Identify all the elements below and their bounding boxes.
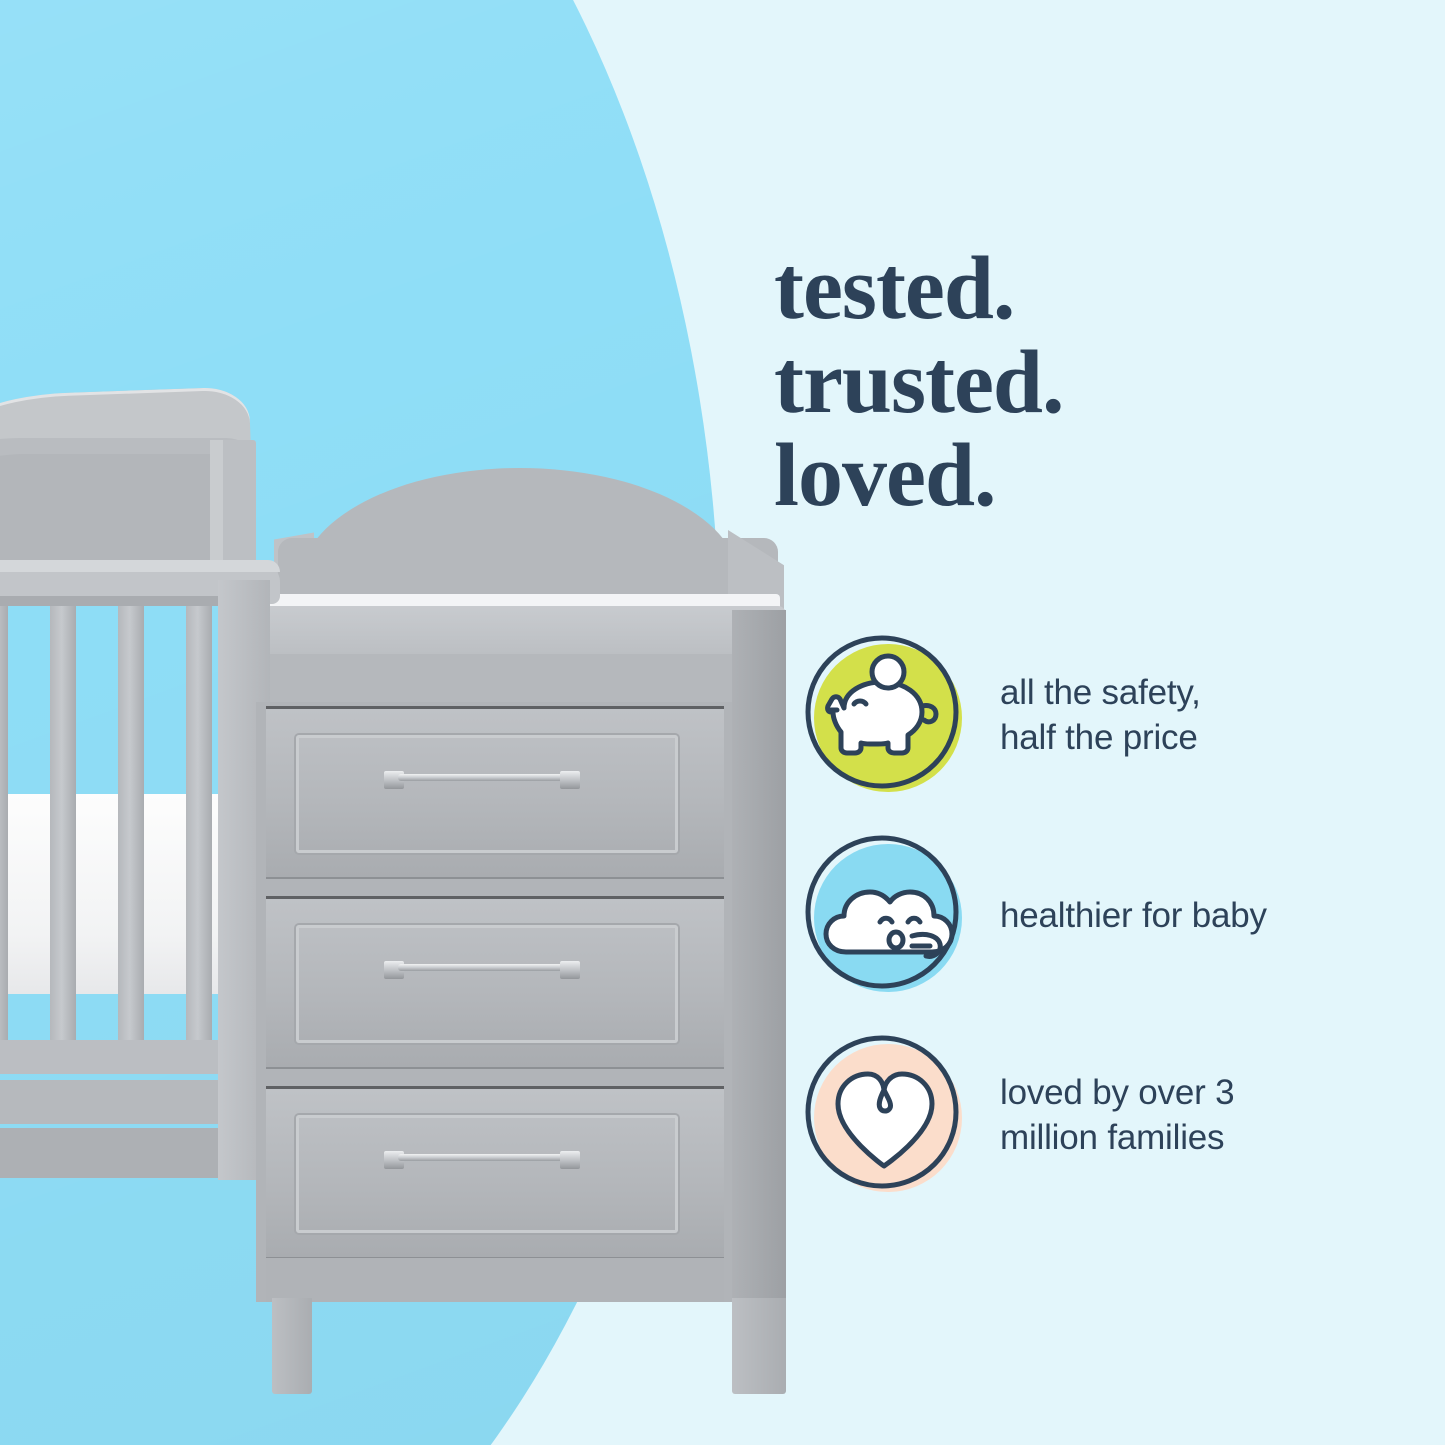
benefit-label: healthier for baby <box>1000 894 1267 939</box>
drawer-pull-bar <box>398 964 566 971</box>
page-title: tested. trusted. loved. <box>774 242 1374 523</box>
drawer-bottom <box>266 1086 724 1259</box>
benefit-item-healthier: healthier for baby <box>800 816 1400 1016</box>
headline-line-3: loved. <box>774 429 1374 523</box>
drawer-middle <box>266 896 724 1069</box>
crib-top-rail-highlight <box>0 560 280 572</box>
drawer-pull-end-right <box>560 1151 580 1169</box>
dresser-right-side <box>732 610 786 1300</box>
drawer-pull <box>384 1151 580 1161</box>
crib-lower-rail-base <box>0 1128 240 1178</box>
dresser-body <box>256 702 736 1302</box>
drawer-pull-bar <box>398 1154 566 1161</box>
crib-slat <box>186 606 212 1046</box>
drawer-panel <box>296 735 678 853</box>
benefit-item-loved: loved by over 3 million families <box>800 1016 1400 1216</box>
leg-left <box>272 1298 312 1394</box>
drawer-pull-end-right <box>560 771 580 789</box>
drawer-top <box>266 706 724 879</box>
benefit-label: all the safety, half the price <box>1000 671 1201 761</box>
leg-right <box>732 1298 786 1394</box>
product-image <box>0 380 680 1210</box>
crib-slat <box>0 606 8 1046</box>
crib-slat <box>50 606 76 1046</box>
heart-icon <box>800 1032 968 1200</box>
drawer-panel <box>296 925 678 1043</box>
changer-apron <box>256 654 786 706</box>
drawer-pull <box>384 771 580 781</box>
drawer-panel <box>296 1115 678 1233</box>
drawer-pull-bar <box>398 774 566 781</box>
marketing-product-banner: tested. trusted. loved. <box>0 0 1445 1445</box>
dresser-apron <box>266 1258 724 1302</box>
drawer-pull-end-right <box>560 961 580 979</box>
headline-line-1: tested. <box>774 242 1374 336</box>
piggy-bank-icon <box>800 632 968 800</box>
crib-headboard-inner-panel <box>0 454 237 574</box>
benefits-list: all the safety, half the price <box>800 616 1400 1216</box>
smiling-cloud-icon <box>800 832 968 1000</box>
benefit-item-safety-price: all the safety, half the price <box>800 616 1400 816</box>
drawer-pull <box>384 961 580 971</box>
crib-slat <box>118 606 144 1046</box>
headline-line-2: trusted. <box>774 336 1374 430</box>
benefit-label: loved by over 3 million families <box>1000 1071 1234 1161</box>
